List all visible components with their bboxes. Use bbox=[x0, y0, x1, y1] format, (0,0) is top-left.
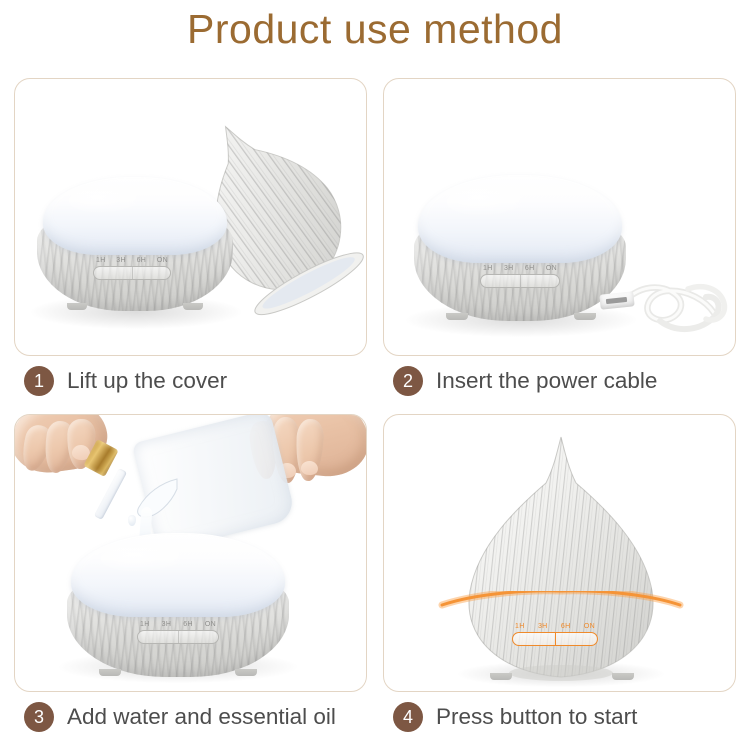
control-label-3h: 3H bbox=[538, 623, 548, 630]
timer-button[interactable] bbox=[94, 267, 133, 279]
control-panel[interactable]: 1H 3H 6H ON bbox=[480, 265, 560, 288]
translucent-dome bbox=[71, 533, 285, 617]
control-panel-labels: 1H 3H 6H ON bbox=[480, 265, 560, 274]
step-image-4: 1H 3H 6H ON bbox=[383, 414, 736, 692]
step-image-1: 1H 3H 6H ON bbox=[14, 78, 367, 356]
control-panel[interactable]: 1H 3H 6H ON bbox=[93, 257, 171, 280]
base-foot bbox=[67, 303, 87, 310]
control-label-1h: 1H bbox=[140, 621, 150, 628]
step-card-3: 1H 3H 6H ON 3 Add water and essential bbox=[14, 414, 367, 736]
control-label-on: ON bbox=[157, 257, 168, 264]
control-buttons[interactable] bbox=[93, 266, 171, 280]
base-foot bbox=[446, 313, 468, 320]
control-label-1h: 1H bbox=[515, 623, 525, 630]
product-instruction-page: Product use method bbox=[0, 0, 750, 750]
control-label-3h: 3H bbox=[504, 265, 514, 272]
step-card-4: 1H 3H 6H ON 4 Press button to start bbox=[383, 414, 736, 736]
step-badge-2: 2 bbox=[393, 366, 423, 396]
step-card-2: 1H 3H 6H ON bbox=[383, 78, 736, 400]
control-panel-labels: 1H 3H 6H ON bbox=[93, 257, 171, 266]
steps-grid: 1H 3H 6H ON 1 Lift up the cover bbox=[14, 78, 736, 743]
assembled-diffuser-powered-on-scene: 1H 3H 6H ON bbox=[384, 415, 735, 691]
step-caption-text-4: Press button to start bbox=[436, 704, 637, 730]
step-image-2: 1H 3H 6H ON bbox=[383, 78, 736, 356]
step-caption-text-1: Lift up the cover bbox=[67, 368, 227, 394]
control-label-on: ON bbox=[205, 621, 216, 628]
dropper-tube bbox=[94, 468, 127, 520]
power-button[interactable] bbox=[179, 631, 219, 643]
diffuser-with-power-cable-scene: 1H 3H 6H ON bbox=[384, 79, 735, 355]
step-caption-4: 4 Press button to start bbox=[393, 697, 637, 737]
base-foot bbox=[183, 303, 203, 310]
orange-seam-glow bbox=[438, 591, 684, 619]
base-foot bbox=[490, 673, 512, 680]
control-buttons[interactable] bbox=[137, 630, 219, 644]
power-button[interactable] bbox=[521, 275, 560, 287]
adding-water-and-oil-scene: 1H 3H 6H ON bbox=[15, 415, 366, 691]
control-label-6h: 6H bbox=[525, 265, 535, 272]
cup-spout bbox=[133, 477, 179, 519]
page-title: Product use method bbox=[0, 6, 750, 53]
control-label-3h: 3H bbox=[116, 257, 126, 264]
power-button[interactable] bbox=[556, 633, 598, 645]
timer-button[interactable] bbox=[481, 275, 521, 287]
control-label-on: ON bbox=[584, 623, 595, 630]
step-caption-text-3: Add water and essential oil bbox=[67, 704, 336, 730]
step-badge-1: 1 bbox=[24, 366, 54, 396]
control-panel-labels: 1H 3H 6H ON bbox=[137, 621, 219, 630]
base-foot bbox=[99, 669, 121, 676]
control-label-6h: 6H bbox=[561, 623, 571, 630]
lit-control-panel[interactable]: 1H 3H 6H ON bbox=[512, 623, 598, 646]
timer-button[interactable] bbox=[513, 633, 556, 645]
control-panel-labels: 1H 3H 6H ON bbox=[512, 623, 598, 632]
control-buttons[interactable] bbox=[512, 632, 598, 646]
step-card-1: 1H 3H 6H ON 1 Lift up the cover bbox=[14, 78, 367, 400]
control-label-3h: 3H bbox=[162, 621, 172, 628]
control-label-1h: 1H bbox=[96, 257, 106, 264]
step-caption-3: 3 Add water and essential oil bbox=[24, 697, 336, 737]
step-caption-text-2: Insert the power cable bbox=[436, 368, 657, 394]
base-foot bbox=[574, 313, 596, 320]
translucent-dome bbox=[418, 175, 622, 263]
step-caption-2: 2 Insert the power cable bbox=[393, 361, 657, 401]
base-foot bbox=[235, 669, 257, 676]
base-foot bbox=[612, 673, 634, 680]
control-panel[interactable]: 1H 3H 6H ON bbox=[137, 621, 219, 644]
control-buttons[interactable] bbox=[480, 274, 560, 288]
control-label-1h: 1H bbox=[483, 265, 493, 272]
diffuser-with-cover-lifted-scene: 1H 3H 6H ON bbox=[15, 79, 366, 355]
step-badge-4: 4 bbox=[393, 702, 423, 732]
control-label-6h: 6H bbox=[137, 257, 147, 264]
control-label-on: ON bbox=[546, 265, 557, 272]
timer-button[interactable] bbox=[138, 631, 179, 643]
translucent-dome bbox=[43, 177, 227, 255]
control-label-6h: 6H bbox=[183, 621, 193, 628]
power-button[interactable] bbox=[133, 267, 171, 279]
step-image-3: 1H 3H 6H ON bbox=[14, 414, 367, 692]
step-caption-1: 1 Lift up the cover bbox=[24, 361, 227, 401]
step-badge-3: 3 bbox=[24, 702, 54, 732]
